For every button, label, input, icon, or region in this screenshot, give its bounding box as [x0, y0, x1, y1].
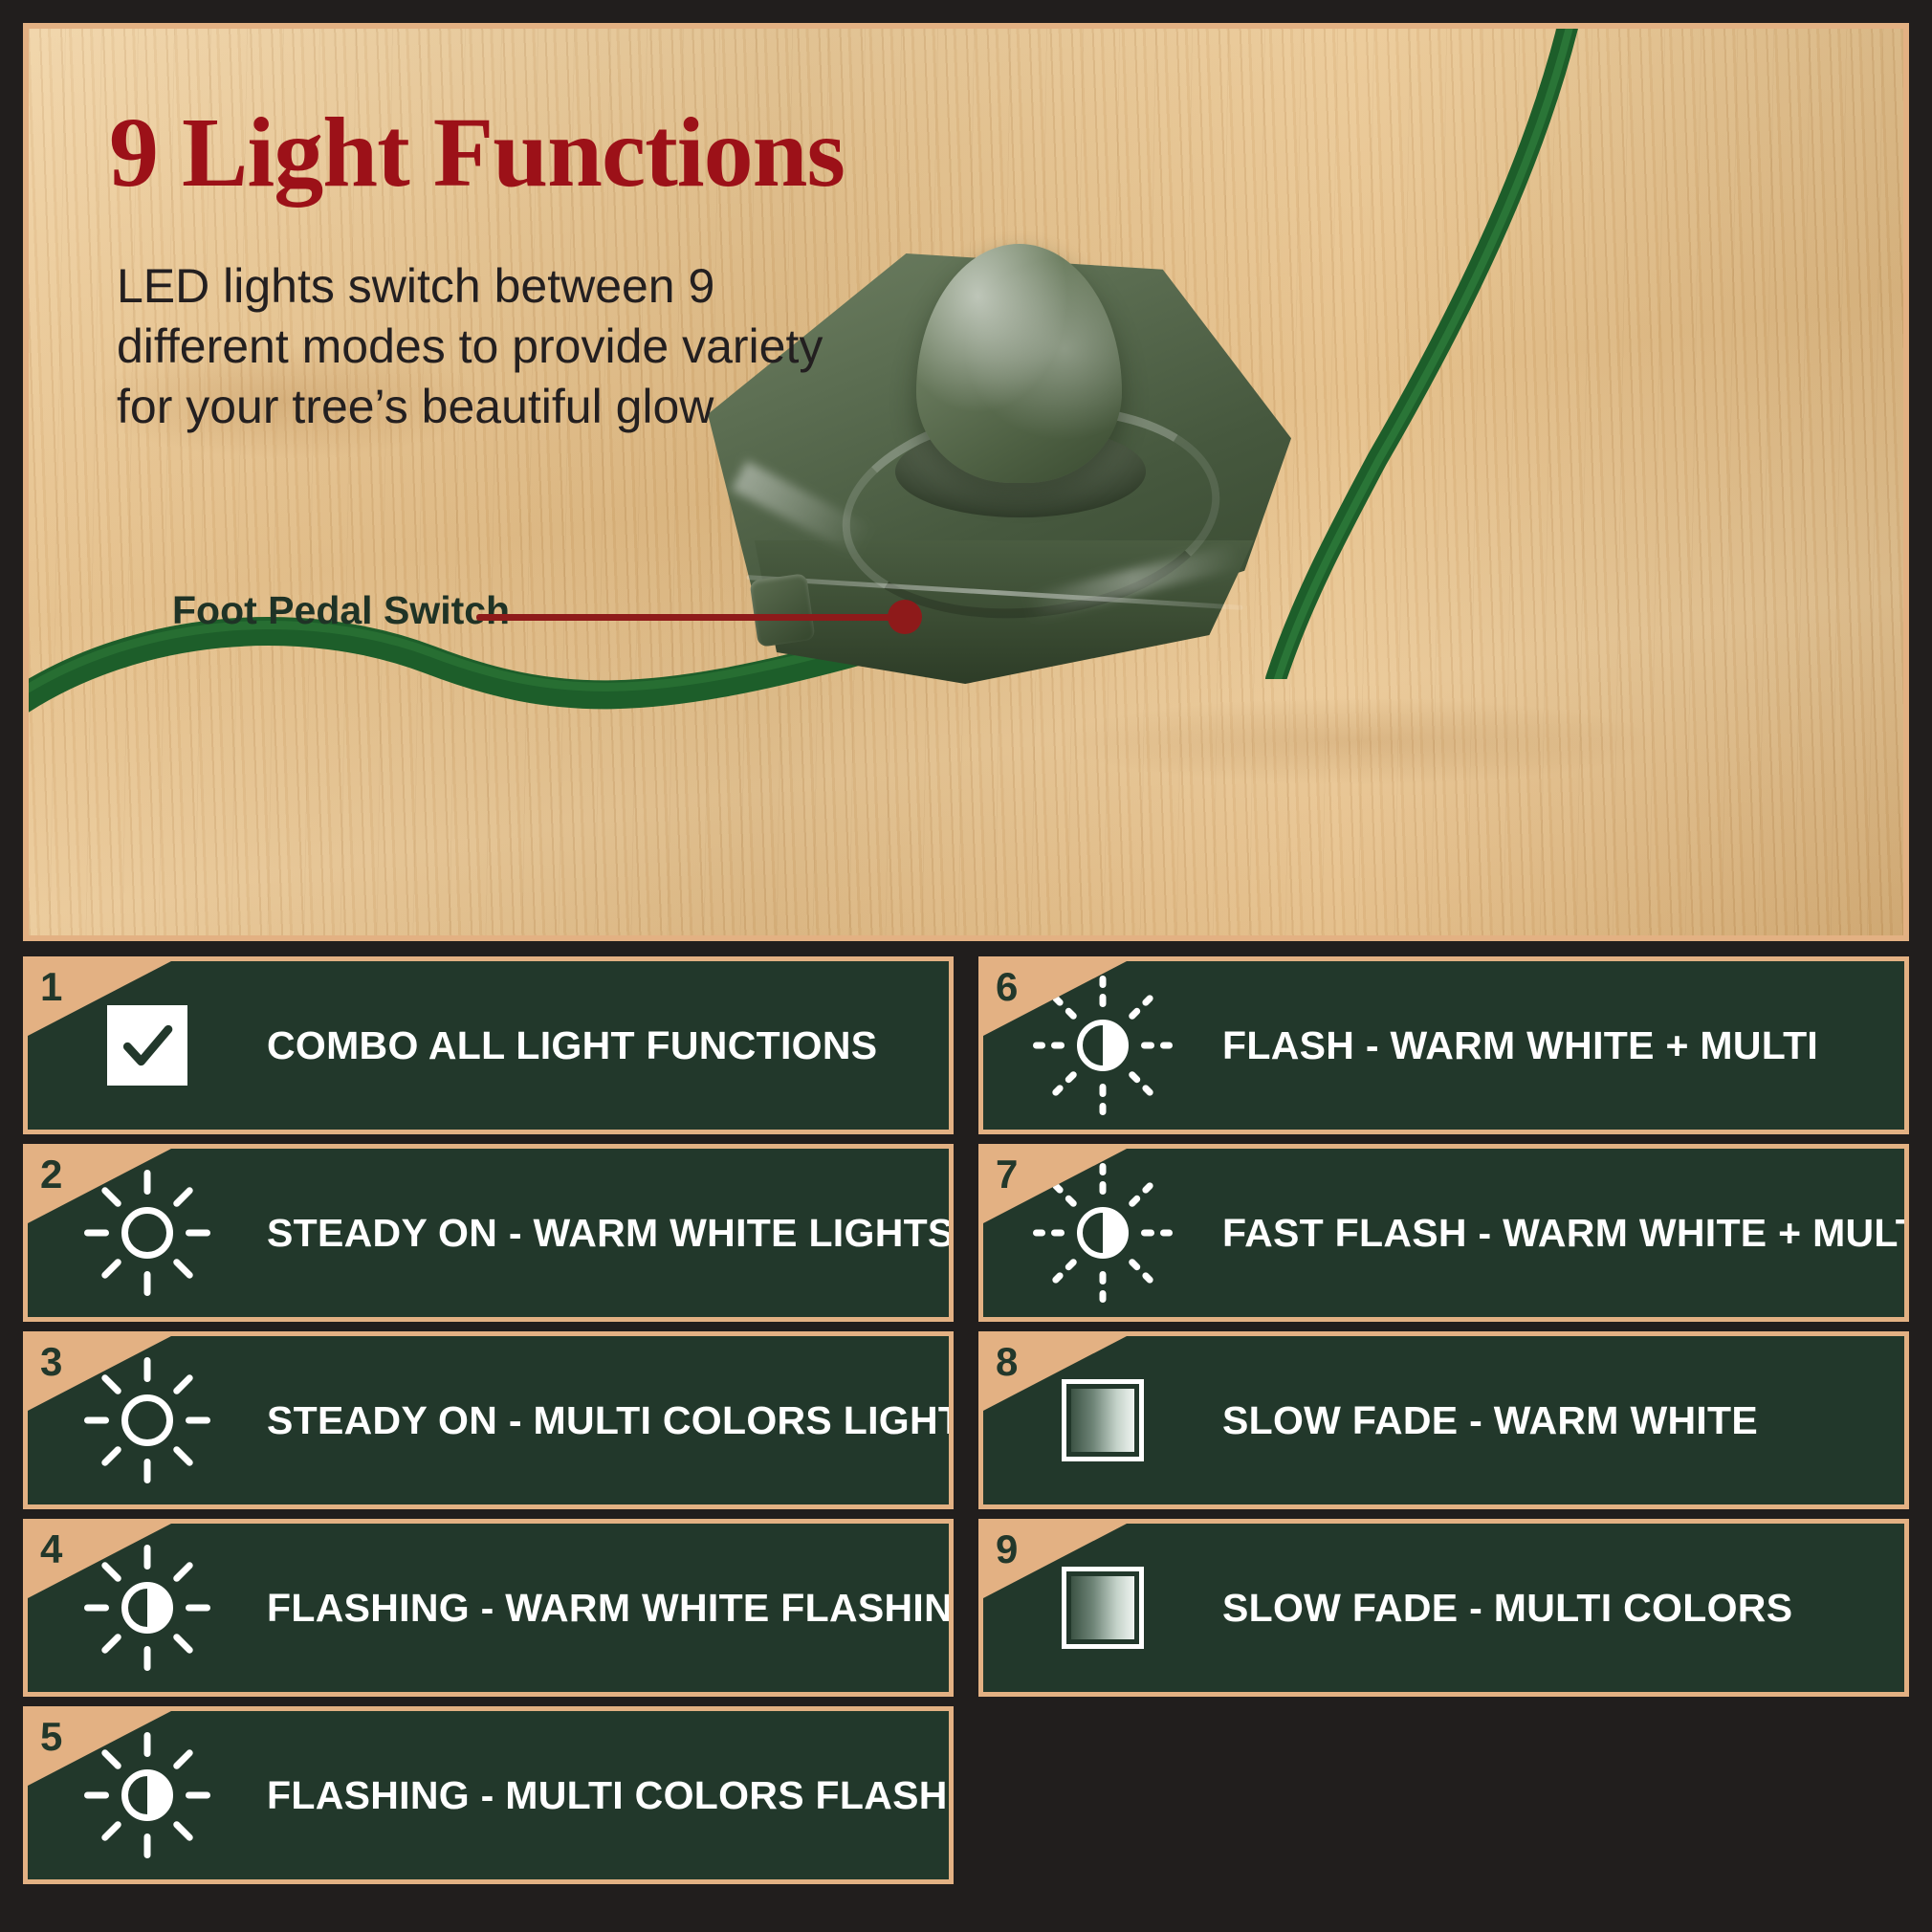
sun-ray: [144, 1459, 151, 1483]
card-label: STEADY ON - MULTI COLORS LIGHTS: [267, 1398, 989, 1443]
sun-ray: [1100, 1271, 1107, 1284]
sun-ray: [172, 1186, 194, 1208]
sun-ray: [1064, 1006, 1078, 1021]
light-function-card[interactable]: STEADY ON - MULTI COLORS LIGHTS3: [23, 1331, 954, 1509]
sun-ray: [84, 1792, 109, 1799]
sun-core: [121, 1582, 173, 1634]
card-body: FAST FLASH - WARM WHITE + MULTI: [983, 1149, 1904, 1317]
sun-ray: [100, 1820, 122, 1842]
gradient-fill: [1071, 1389, 1134, 1452]
sun-half-icon: [87, 1735, 208, 1855]
card-body: FLASHING - WARM WHITE FLASHING: [28, 1524, 949, 1692]
card-number: 4: [40, 1526, 62, 1572]
card-body: STEADY ON - WARM WHITE LIGHTS: [28, 1149, 949, 1317]
card-icon-slot: [983, 1173, 1222, 1293]
sun-dashed-half-icon: [1043, 1173, 1163, 1293]
card-label: FAST FLASH - WARM WHITE + MULTI: [1222, 1211, 1931, 1256]
checkbox-check-icon: [107, 1005, 187, 1086]
light-function-card[interactable]: STEADY ON - WARM WHITE LIGHTS2: [23, 1144, 954, 1322]
sun-ray: [1128, 1070, 1142, 1085]
card-icon-slot: [983, 985, 1222, 1106]
card-icon-slot: [28, 1548, 267, 1668]
sun-ray: [1051, 1043, 1065, 1049]
sun-ray: [1128, 1006, 1142, 1021]
card-number: 8: [996, 1339, 1018, 1385]
card-body: COMBO ALL LIGHT FUNCTIONS: [28, 961, 949, 1130]
infographic-page: 9 Light Functions LED lights switch betw…: [0, 0, 1932, 1932]
light-functions-grid: COMBO ALL LIGHT FUNCTIONS1STEADY ON - WA…: [23, 956, 1909, 1884]
card-number: 7: [996, 1152, 1018, 1197]
power-cord-upper: [1262, 23, 1664, 679]
sun-ray: [172, 1258, 194, 1280]
callout-label: Foot Pedal Switch: [172, 588, 510, 633]
sun-ray: [172, 1820, 194, 1842]
functions-column-left: COMBO ALL LIGHT FUNCTIONS1STEADY ON - WA…: [23, 956, 954, 1884]
sun-core: [1077, 1207, 1129, 1259]
card-number: 9: [996, 1526, 1018, 1572]
card-number: 1: [40, 964, 62, 1010]
card-label: COMBO ALL LIGHT FUNCTIONS: [267, 1023, 877, 1068]
sun-ray: [172, 1445, 194, 1467]
light-function-card[interactable]: COMBO ALL LIGHT FUNCTIONS1: [23, 956, 954, 1134]
sun-ray: [186, 1605, 210, 1612]
card-number: 5: [40, 1714, 62, 1760]
sun-ray: [1100, 994, 1107, 1007]
card-label: FLASH - WARM WHITE + MULTI: [1222, 1023, 1818, 1068]
light-function-card[interactable]: FLASHING - WARM WHITE FLASHING4: [23, 1519, 954, 1697]
sun-ray: [1141, 1043, 1154, 1049]
sun-ray: [100, 1561, 122, 1583]
light-function-card[interactable]: FLASH - WARM WHITE + MULTI6: [978, 956, 1909, 1134]
sun-ray: [172, 1373, 194, 1395]
card-body: SLOW FADE - MULTI COLORS: [983, 1524, 1904, 1692]
card-label: FLASHING - WARM WHITE FLASHING: [267, 1586, 983, 1631]
sun-ray: [1100, 1084, 1107, 1097]
sun-half-icon: [87, 1548, 208, 1668]
sun-ray: [144, 1833, 151, 1858]
sun-ray: [1064, 1258, 1078, 1272]
sun-ray: [100, 1186, 122, 1208]
sun-ray: [100, 1445, 122, 1467]
sun-ray: [144, 1545, 151, 1570]
gradient-square-icon: [1062, 1567, 1144, 1649]
sun-solid-icon: [87, 1360, 208, 1481]
light-function-card[interactable]: FLASHING - MULTI COLORS FLASHING5: [23, 1706, 954, 1884]
callout-leader-line: [476, 614, 905, 621]
card-number: 2: [40, 1152, 62, 1197]
card-icon-slot: [28, 1360, 267, 1481]
card-icon-slot: [983, 1567, 1222, 1649]
sun-ray: [144, 1732, 151, 1757]
light-function-card[interactable]: SLOW FADE - MULTI COLORS9: [978, 1519, 1909, 1697]
card-number: 6: [996, 964, 1018, 1010]
page-subtitle: LED lights switch between 9 different mo…: [117, 256, 863, 437]
sun-ray: [100, 1633, 122, 1655]
gradient-square-icon: [1062, 1379, 1144, 1461]
sun-ray: [186, 1792, 210, 1799]
sun-ray: [84, 1230, 109, 1237]
sun-dashed-half-icon: [1043, 985, 1163, 1106]
card-number: 3: [40, 1339, 62, 1385]
sun-ray: [1064, 1070, 1078, 1085]
sun-ray: [144, 1170, 151, 1195]
sun-core: [121, 1394, 173, 1446]
sun-ray: [1051, 1230, 1065, 1237]
sun-ray: [1100, 1181, 1107, 1195]
light-function-card[interactable]: FAST FLASH - WARM WHITE + MULTI7: [978, 1144, 1909, 1322]
card-body: SLOW FADE - WARM WHITE: [983, 1336, 1904, 1504]
card-body: FLASH - WARM WHITE + MULTI: [983, 961, 1904, 1130]
sun-solid-icon: [87, 1173, 208, 1293]
hero-photo-panel: 9 Light Functions LED lights switch betw…: [23, 23, 1909, 941]
callout-leader-dot: [888, 600, 922, 634]
sun-ray: [1128, 1194, 1142, 1208]
sun-core: [121, 1207, 173, 1259]
sun-ray: [186, 1230, 210, 1237]
sun-ray: [186, 1417, 210, 1424]
card-body: STEADY ON - MULTI COLORS LIGHTS: [28, 1336, 949, 1504]
switch-cord-clip: [749, 573, 815, 648]
sun-ray: [1064, 1194, 1078, 1208]
gradient-fill: [1071, 1576, 1134, 1639]
sun-ray: [100, 1373, 122, 1395]
page-title: 9 Light Functions: [109, 103, 845, 203]
sun-ray: [172, 1633, 194, 1655]
light-function-card[interactable]: SLOW FADE - WARM WHITE8: [978, 1331, 1909, 1509]
card-icon-slot: [28, 1005, 267, 1086]
sun-ray: [172, 1748, 194, 1770]
sun-ray: [144, 1357, 151, 1382]
sun-core: [121, 1769, 173, 1821]
card-icon-slot: [28, 1735, 267, 1855]
card-icon-slot: [28, 1173, 267, 1293]
sun-ray: [100, 1748, 122, 1770]
card-label: SLOW FADE - WARM WHITE: [1222, 1398, 1758, 1443]
card-icon-slot: [983, 1379, 1222, 1461]
sun-ray: [172, 1561, 194, 1583]
card-label: SLOW FADE - MULTI COLORS: [1222, 1586, 1792, 1631]
sun-ray: [144, 1646, 151, 1671]
card-label: FLASHING - MULTI COLORS FLASHING: [267, 1773, 1019, 1818]
sun-ray: [100, 1258, 122, 1280]
functions-column-right: FLASH - WARM WHITE + MULTI6FAST FLASH - …: [978, 956, 1909, 1884]
sun-ray: [1141, 1230, 1154, 1237]
card-body: FLASHING - MULTI COLORS FLASHING: [28, 1711, 949, 1879]
wood-grain-accent-2: [1062, 698, 1655, 784]
sun-ray: [144, 1271, 151, 1296]
sun-ray: [84, 1417, 109, 1424]
sun-ray: [84, 1605, 109, 1612]
card-label: STEADY ON - WARM WHITE LIGHTS: [267, 1211, 955, 1256]
sun-core: [1077, 1020, 1129, 1071]
sun-ray: [1128, 1258, 1142, 1272]
